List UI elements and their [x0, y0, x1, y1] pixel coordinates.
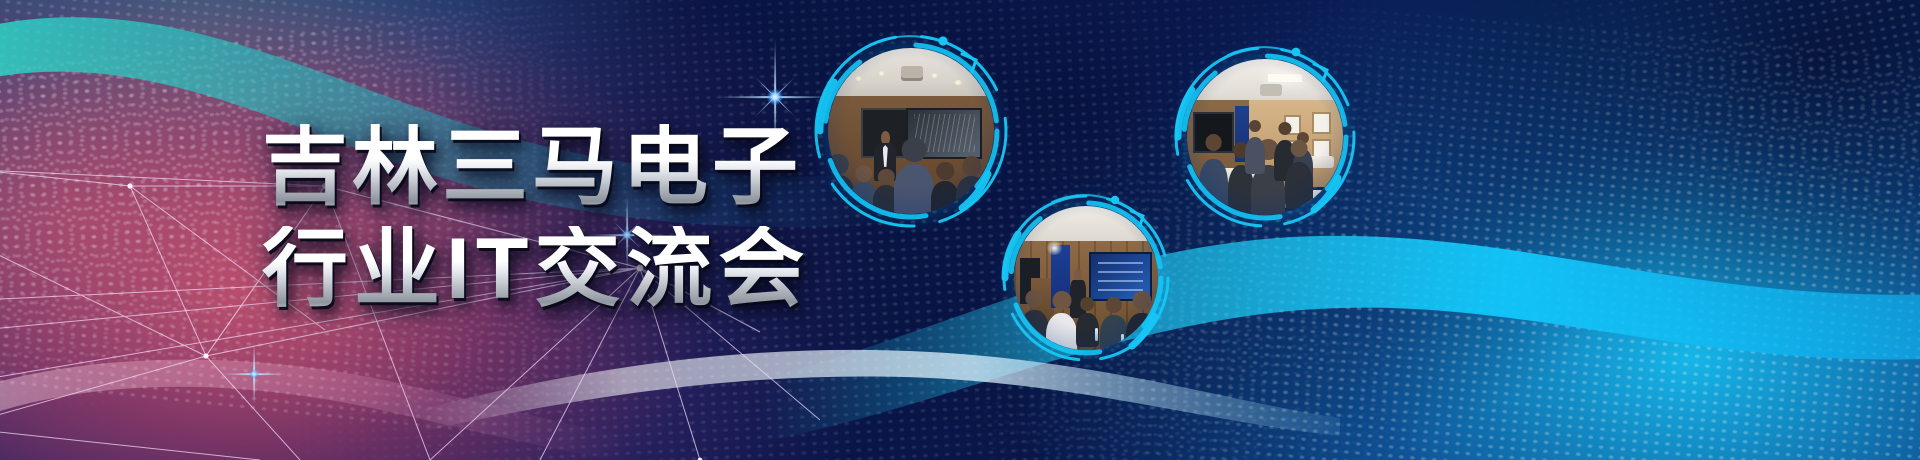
photo-image-3 [1014, 206, 1158, 350]
photo-circle-training-room[interactable] [1172, 44, 1358, 230]
photo-circle-conference-presentation[interactable] [812, 32, 1010, 230]
photo-image-1 [828, 48, 994, 214]
headline-line-1: 吉林三马电子 [262, 124, 810, 212]
photo-circle-speaker-microphone[interactable] [1000, 192, 1172, 364]
headline-line-2: 行业IT交流会 [262, 226, 810, 314]
event-banner: 吉林三马电子 行业IT交流会 [0, 0, 1920, 460]
photo-image-2 [1187, 59, 1343, 215]
banner-headline: 吉林三马电子 行业IT交流会 [262, 124, 810, 313]
